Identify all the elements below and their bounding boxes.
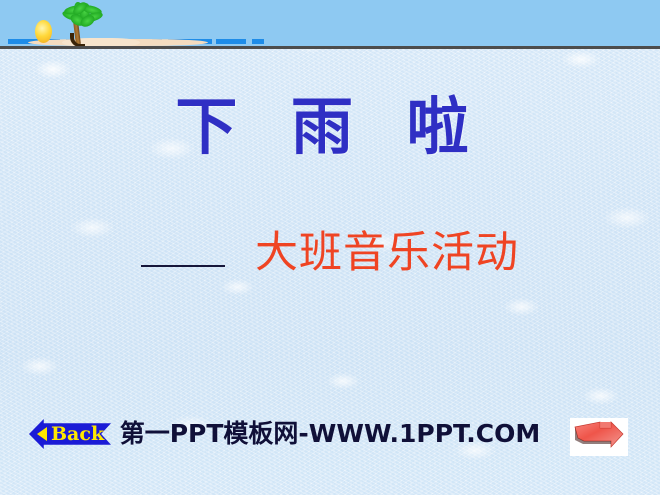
watermark-text: 第一PPT模板网-WWW.1PPT.COM [0, 418, 660, 450]
subtitle-row: 大班音乐活动 [0, 232, 660, 275]
sun-icon [35, 20, 52, 43]
page-title: 下 雨 啦 [0, 96, 660, 158]
subtitle-dash [141, 265, 225, 267]
beach-banner [0, 0, 660, 48]
subtitle-text: 大班音乐活动 [255, 232, 519, 275]
water-wave [216, 39, 246, 44]
banner-divider-rule [0, 46, 660, 49]
water-wave [252, 39, 264, 44]
slide-canvas: 下 雨 啦 大班音乐活动 Back 第一PPT模板网-WWW.1PPT.COM [0, 0, 660, 495]
bent-arrow-right-icon[interactable] [570, 418, 628, 456]
palm-leaves [60, 2, 104, 28]
